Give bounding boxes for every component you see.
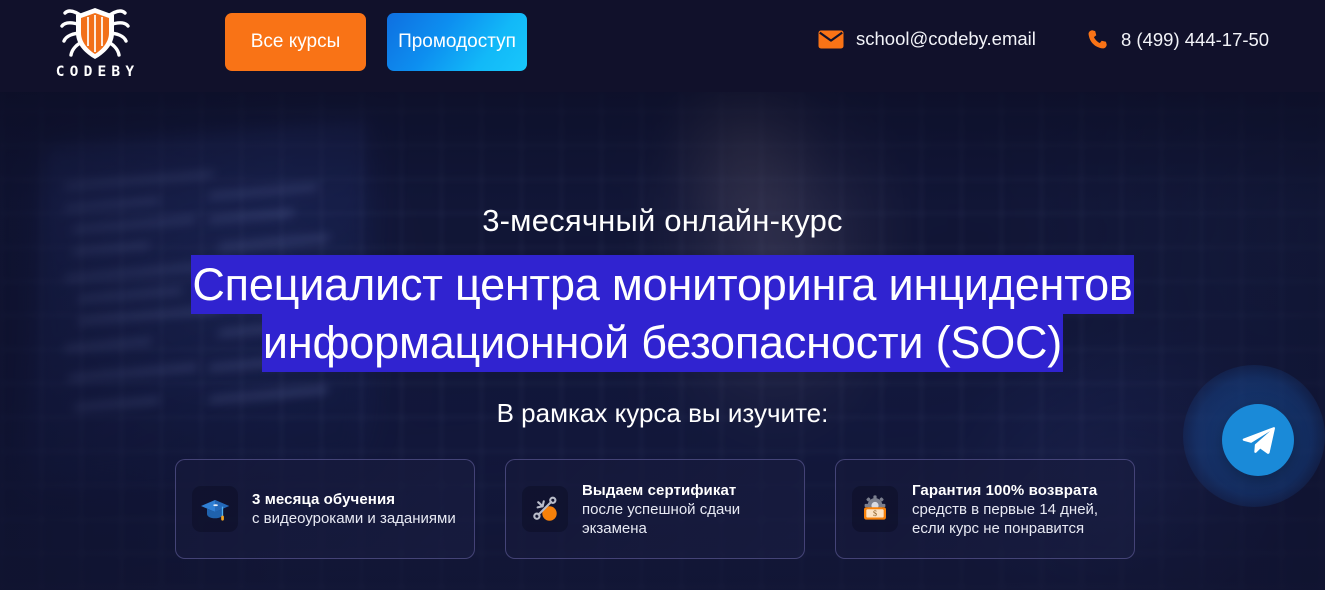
page-title-line-1: Специалист центра мониторинга инцидентов [191,255,1133,314]
feature-icon-wrap: $ [852,486,898,532]
contact-email-text: school@codeby.email [856,28,1036,50]
hero-content: 3-месячный онлайн-курс Специалист центра… [0,92,1325,590]
feature-card-desc: средств в первые 14 дней, если курс не п… [912,500,1120,538]
money-back-gear-icon: $ [858,492,892,526]
feature-card-title: 3 месяца обучения [252,490,456,509]
contact-phone-text: 8 (499) 444-17-50 [1121,29,1269,51]
feature-card-text: Гарантия 100% возврата средств в первые … [912,481,1120,538]
site-header: CODEBY Все курсы Промодоступ school@code… [0,0,1325,92]
feature-icon-wrap [522,486,568,532]
telegram-paper-plane-icon [1240,424,1276,456]
logo[interactable]: CODEBY [42,5,148,85]
phone-icon [1086,28,1109,51]
hero-subheading: В рамках курса вы изучите: [0,398,1325,429]
page-title: Специалист центра мониторинга инцидентов… [0,256,1325,372]
feature-card-desc: после успешной сдачи экзамена [582,500,790,538]
telegram-float-wrap [1183,365,1325,507]
contact-email[interactable]: school@codeby.email [818,28,1036,50]
feature-card-guarantee: $ Гарантия 100% возврата средств в первы… [835,459,1135,559]
contact-phone[interactable]: 8 (499) 444-17-50 [1086,28,1269,51]
telegram-button[interactable] [1222,404,1294,476]
page-root: CODEBY Все курсы Промодоступ school@code… [0,0,1325,590]
page-title-line-2: информационной безопасности (SOC) [262,313,1063,372]
graduation-cap-icon [198,492,232,526]
feature-card-title: Выдаем сертификат [582,481,790,500]
feature-card-duration: 3 месяца обучения с видеоуроками и задан… [175,459,475,559]
feature-card-text: 3 месяца обучения с видеоуроками и задан… [252,490,456,528]
svg-text:$: $ [873,509,877,518]
feature-card-certificate: Выдаем сертификат после успешной сдачи э… [505,459,805,559]
logo-wordmark: CODEBY [51,65,140,80]
feature-card-text: Выдаем сертификат после успешной сдачи э… [582,481,790,538]
envelope-icon [818,30,844,49]
course-duration-eyebrow: 3-месячный онлайн-курс [0,203,1325,239]
promo-access-button[interactable]: Промодоступ [387,13,527,71]
feature-cards: 3 месяца обучения с видеоуроками и задан… [175,459,1135,559]
codeby-spider-shield-icon [59,5,131,63]
feature-card-title: Гарантия 100% возврата [912,481,1120,500]
feature-icon-wrap [192,486,238,532]
diploma-scroll-icon [528,492,562,526]
hero-section: 3-месячный онлайн-курс Специалист центра… [0,92,1325,590]
all-courses-button[interactable]: Все курсы [225,13,366,71]
feature-card-desc: с видеоуроками и заданиями [252,509,456,528]
